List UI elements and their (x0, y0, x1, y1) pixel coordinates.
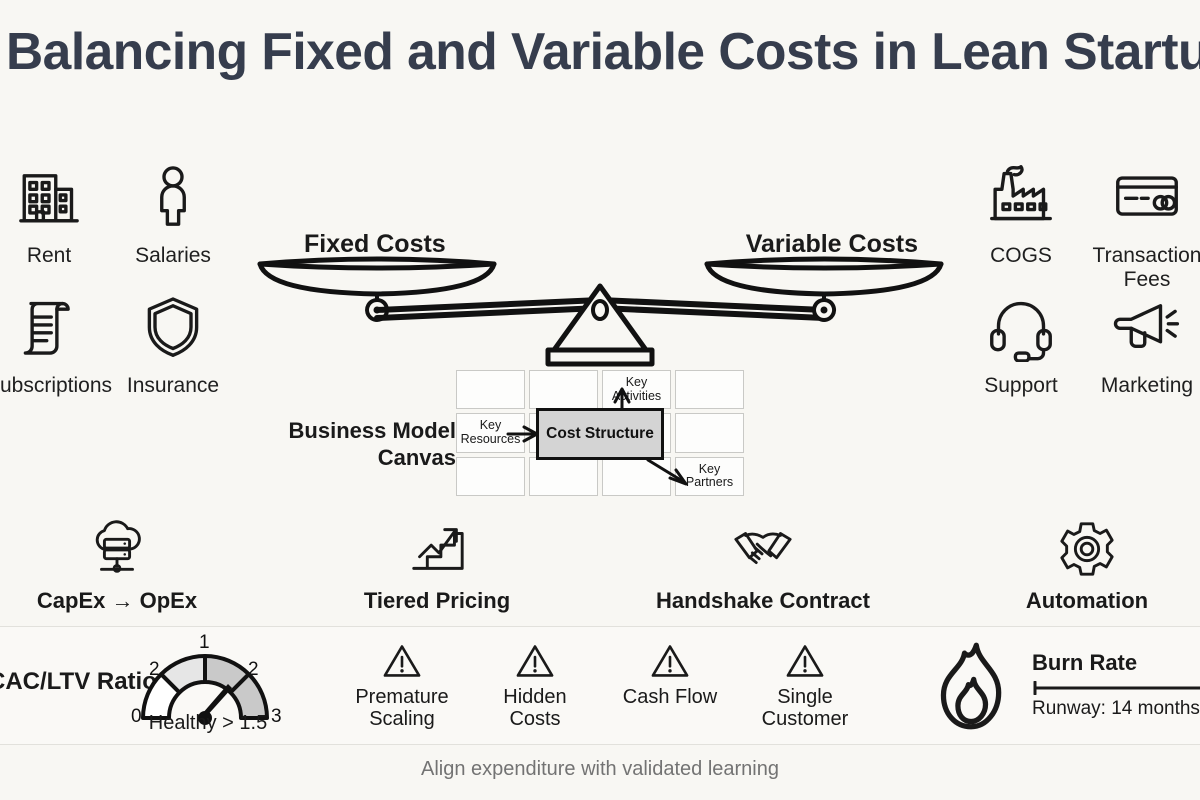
canvas-cell (529, 457, 598, 496)
fixed-cost-label: Insurance (98, 374, 248, 398)
strategy-item-automation: Automation (972, 518, 1200, 614)
strategy-item-tiered-pricing: Tiered Pricing (322, 518, 552, 614)
canvas-cell (456, 457, 525, 496)
fixed-cost-label: Salaries (98, 244, 248, 268)
infographic-root: Balancing Fixed and Variable Costs in Le… (0, 0, 1200, 800)
risk-label: Hidden Costs (465, 686, 605, 730)
gauge-tick-3: 2 (248, 659, 259, 680)
gear-icon (972, 518, 1200, 584)
variable-cost-item-marketing: Marketing (1072, 290, 1200, 398)
gauge-tick-1: 2 (149, 659, 160, 680)
risk-item-single-customer: Single Customer (735, 640, 875, 730)
burn-rate-subtitle: Runway: 14 months (1032, 698, 1200, 720)
page-title: Balancing Fixed and Variable Costs in Le… (6, 22, 1194, 82)
gauge-caption: Healthy > 1.5 (118, 712, 298, 735)
canvas-cell (675, 370, 744, 409)
warning-triangle-icon (600, 640, 740, 684)
variable-cost-item-transaction-fees: Transaction Fees (1072, 160, 1200, 291)
balance-scale: Fixed Costs Variable Costs (248, 222, 958, 372)
variable-cost-label: Transaction Fees (1072, 244, 1200, 291)
shield-icon (98, 290, 248, 368)
credit-card-icon (1072, 160, 1200, 238)
warning-triangle-icon (735, 640, 875, 684)
cloud-server-icon (2, 518, 232, 584)
canvas-cell-key-partners: Key Partners (675, 457, 744, 496)
footer-caption: Align expenditure with validated learnin… (0, 758, 1200, 781)
strategy-label: Handshake Contract (648, 588, 878, 614)
person-icon (98, 160, 248, 238)
cost-structure-block: Cost Structure (536, 408, 664, 460)
strategy-label: Tiered Pricing (322, 588, 552, 614)
stairs-growth-icon (322, 518, 552, 584)
fixed-cost-item-insurance: Insurance (98, 290, 248, 398)
risk-label: Cash Flow (600, 686, 740, 708)
canvas-cell (529, 370, 598, 409)
canvas-cell-key-activities: Key Activities (602, 370, 671, 409)
canvas-cell (602, 457, 671, 496)
risk-label: Premature Scaling (332, 686, 472, 730)
burn-rate-block: Burn Rate Runway: 14 months (1032, 650, 1200, 720)
canvas-cell (675, 413, 744, 452)
handshake-icon (648, 518, 878, 584)
megaphone-icon (1072, 290, 1200, 368)
balance-scale-icon (248, 222, 958, 372)
risk-item-premature-scaling: Premature Scaling (332, 640, 472, 730)
strategy-item-capex-opex: CapEx → OpEx (2, 518, 232, 614)
strategy-item-handshake-contract: Handshake Contract (648, 518, 878, 614)
flame-icon (932, 640, 1018, 737)
canvas-cell-key-resources: Key Resources (456, 413, 525, 452)
strategy-label: CapEx → OpEx (2, 588, 232, 614)
risk-item-cash-flow: Cash Flow (600, 640, 740, 708)
fixed-cost-item-salaries: Salaries (98, 160, 248, 268)
risk-label: Single Customer (735, 686, 875, 730)
gauge-tick-2: 1 (199, 632, 210, 653)
variable-cost-label: Marketing (1072, 374, 1200, 398)
burn-rate-title: Burn Rate (1032, 650, 1200, 676)
business-model-canvas-title: Business Model Canvas (288, 418, 456, 472)
gauge-label: CAC/LTV Ratio (0, 668, 128, 696)
warning-triangle-icon (332, 640, 472, 684)
burn-rate-axis (1032, 681, 1200, 695)
risk-item-hidden-costs: Hidden Costs (465, 640, 605, 730)
canvas-cell (456, 370, 525, 409)
warning-triangle-icon (465, 640, 605, 684)
strategy-label: Automation (972, 588, 1200, 614)
